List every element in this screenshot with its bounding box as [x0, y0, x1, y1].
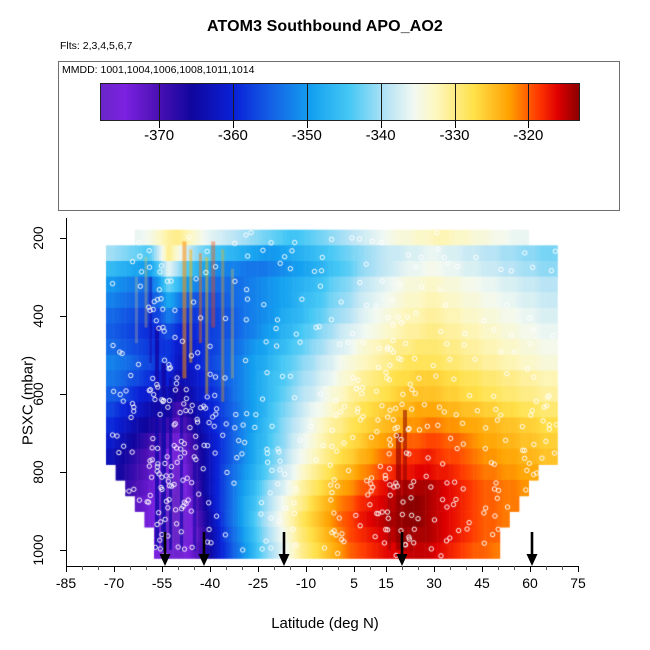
- x-axis-tick-label: 45: [474, 575, 490, 591]
- flight-track-arrow: [197, 532, 211, 566]
- mmdd-label: MMDD: 1001,1004,1006,1008,1011,1014: [62, 64, 254, 76]
- x-axis-tick: [482, 566, 483, 572]
- colorbar-divider: [307, 83, 308, 121]
- x-axis-tick-label: 60: [522, 575, 538, 591]
- x-axis-minor-tick: [274, 566, 275, 570]
- x-axis-tick: [210, 566, 211, 572]
- sample-point-markers: [66, 218, 578, 566]
- colorbar-divider: [159, 83, 160, 121]
- y-axis-tick: [60, 316, 66, 317]
- x-axis-tick-label: 75: [570, 575, 586, 591]
- colorbar-tick-label: -340: [366, 127, 396, 144]
- colorbar-tick-label: -320: [513, 127, 543, 144]
- x-axis-tick: [258, 566, 259, 572]
- colorbar-tick-label: -360: [218, 127, 248, 144]
- x-axis-tick-label: -55: [152, 575, 172, 591]
- x-axis-minor-tick: [466, 566, 467, 570]
- x-axis-tick: [162, 566, 163, 572]
- x-axis-minor-tick: [290, 566, 291, 570]
- heatmap-plot-area[interactable]: [66, 218, 578, 566]
- x-axis-minor-tick: [562, 566, 563, 570]
- y-axis-tick: [60, 238, 66, 239]
- x-axis-tick: [434, 566, 435, 572]
- flight-track-arrow: [525, 532, 539, 566]
- y-axis-line: [66, 218, 67, 566]
- x-axis-minor-tick: [514, 566, 515, 570]
- x-axis-minor-tick: [402, 566, 403, 570]
- x-axis-minor-tick: [178, 566, 179, 570]
- x-axis-tick-label: 30: [426, 575, 442, 591]
- x-axis-minor-tick: [98, 566, 99, 570]
- x-axis-tick-label: 15: [378, 575, 394, 591]
- colorbar-divider: [455, 83, 456, 121]
- colorbar-tick-labels: -370-360-350-340-330-320: [100, 127, 580, 149]
- x-axis-minor-tick: [146, 566, 147, 570]
- x-axis-minor-tick: [226, 566, 227, 570]
- flight-track-arrow: [158, 532, 172, 566]
- colorbar-divider: [381, 83, 382, 121]
- x-axis-minor-tick: [338, 566, 339, 570]
- colorbar-tick-label: -330: [439, 127, 469, 144]
- x-axis-tick: [578, 566, 579, 572]
- y-axis-title: PSXC (mbar): [20, 301, 37, 501]
- x-axis-minor-tick: [82, 566, 83, 570]
- x-axis-tick: [306, 566, 307, 572]
- figure-canvas: ATOM3 Southbound APO_AO2 Flts: 2,3,4,5,6…: [0, 0, 650, 650]
- x-axis-tick-label: -70: [104, 575, 124, 591]
- y-axis-tick: [60, 394, 66, 395]
- flight-track-arrow: [395, 532, 409, 566]
- x-axis-tick-label: -85: [56, 575, 76, 591]
- x-axis-tick: [530, 566, 531, 572]
- y-axis-tick: [60, 472, 66, 473]
- y-axis-tick: [60, 550, 66, 551]
- x-axis-minor-tick: [450, 566, 451, 570]
- flights-label: Flts: 2,3,4,5,6,7: [60, 40, 132, 52]
- x-axis-tick-label: -40: [200, 575, 220, 591]
- x-axis-minor-tick: [130, 566, 131, 570]
- flight-track-arrow: [277, 532, 291, 566]
- x-axis-tick-label: -25: [248, 575, 268, 591]
- x-axis-tick-label: -10: [296, 575, 316, 591]
- y-axis-tick-label: 1000: [30, 530, 46, 570]
- x-axis-minor-tick: [418, 566, 419, 570]
- colorbar-divider: [528, 83, 529, 121]
- y-axis-tick-label: 200: [30, 218, 46, 258]
- x-axis-minor-tick: [370, 566, 371, 570]
- x-axis-minor-tick: [546, 566, 547, 570]
- page-title: ATOM3 Southbound APO_AO2: [0, 18, 650, 36]
- x-axis-tick-label: 5: [350, 575, 358, 591]
- x-axis-tick: [114, 566, 115, 572]
- x-axis-tick: [354, 566, 355, 572]
- x-axis-minor-tick: [322, 566, 323, 570]
- x-axis-minor-tick: [498, 566, 499, 570]
- x-axis-tick: [66, 566, 67, 572]
- x-axis-minor-tick: [194, 566, 195, 570]
- x-axis-minor-tick: [242, 566, 243, 570]
- colorbar-tick-label: -370: [144, 127, 174, 144]
- x-axis-title: Latitude (deg N): [0, 615, 650, 632]
- colorbar[interactable]: -370-360-350-340-330-320: [100, 83, 580, 121]
- x-axis-tick: [386, 566, 387, 572]
- colorbar-dividers: [100, 83, 580, 121]
- colorbar-tick-label: -350: [292, 127, 322, 144]
- colorbar-divider: [233, 83, 234, 121]
